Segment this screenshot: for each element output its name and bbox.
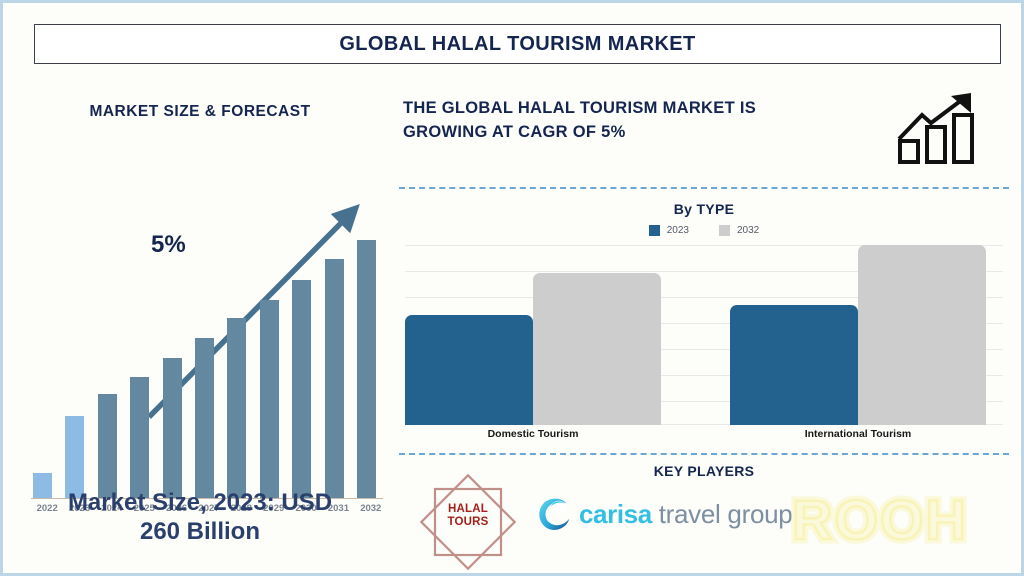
category-label-international-tourism: International Tourism bbox=[730, 428, 986, 440]
cagr-headline-line-1: THE GLOBAL HALAL TOURISM MARKET IS bbox=[403, 99, 756, 117]
halal-tours-line-1: HALAL bbox=[448, 503, 488, 515]
bar-2025 bbox=[130, 377, 149, 498]
globe-swoosh-icon bbox=[535, 495, 573, 533]
bar-2023 bbox=[65, 416, 84, 498]
cagr-headline: THE GLOBAL HALAL TOURISM MARKET IS GROWI… bbox=[403, 97, 883, 145]
bar-2024 bbox=[98, 394, 117, 498]
bar-2027 bbox=[195, 338, 214, 498]
by-type-bar-chart bbox=[405, 245, 1003, 425]
chart-legend: 20232032 bbox=[395, 225, 1013, 236]
bar-2026 bbox=[163, 358, 182, 498]
bar-domestic-tourism-2032 bbox=[533, 273, 661, 425]
infographic-canvas: GLOBAL HALAL TOURISM MARKET MARKET SIZE … bbox=[3, 3, 1021, 573]
key-players-logos: HALAL TOURS bbox=[395, 481, 1013, 573]
divider-top-dashed bbox=[399, 187, 1009, 189]
market-size-bar-chart: 5% 2022202320242025202620272028202920302… bbox=[21, 123, 381, 459]
market-size-value: Market Size, 2023: USD 260 Billion bbox=[11, 488, 389, 547]
rooh-text-glow: ROOH bbox=[792, 488, 968, 551]
rooh-wordmark-icon: ROOH ROOH bbox=[790, 487, 970, 553]
category-axis-labels: Domestic TourismInternational Tourism bbox=[405, 428, 1003, 446]
bar-2028 bbox=[227, 318, 246, 498]
market-size-line-2: 260 Billion bbox=[140, 518, 260, 545]
bar-domestic-tourism-2023 bbox=[405, 315, 533, 425]
legend-item-2023: 2023 bbox=[649, 225, 689, 236]
bar-2030 bbox=[292, 280, 311, 498]
carisa-brand-name: carisa bbox=[579, 499, 652, 529]
bar-2032 bbox=[357, 240, 376, 498]
right-panel: THE GLOBAL HALAL TOURISM MARKET IS GROWI… bbox=[395, 83, 1013, 571]
bar-2029 bbox=[260, 300, 279, 498]
cagr-headline-line-2: GROWING AT CAGR OF 5% bbox=[403, 123, 626, 141]
legend-swatch-2023 bbox=[649, 225, 660, 236]
halal-tours-line-2: TOURS bbox=[447, 516, 488, 528]
divider-bottom-dashed bbox=[399, 453, 1009, 455]
legend-swatch-2032 bbox=[719, 225, 730, 236]
page-title: GLOBAL HALAL TOURISM MARKET bbox=[339, 33, 695, 56]
bar-2031 bbox=[325, 259, 344, 498]
legend-label-2023: 2023 bbox=[667, 225, 689, 236]
carisa-brand-suffix: travel group bbox=[652, 499, 793, 529]
category-label-domestic-tourism: Domestic Tourism bbox=[405, 428, 661, 440]
market-size-forecast-heading: MARKET SIZE & FORECAST bbox=[11, 103, 389, 121]
market-size-line-1: Market Size, 2023: USD bbox=[68, 489, 332, 516]
bar-chart-growth-icon bbox=[895, 91, 987, 166]
legend-label-2032: 2032 bbox=[737, 225, 759, 236]
bar-international-tourism-2023 bbox=[730, 305, 858, 425]
carisa-logo: carisa travel group bbox=[535, 495, 792, 533]
title-box: GLOBAL HALAL TOURISM MARKET bbox=[34, 24, 1001, 64]
bar-international-tourism-2032 bbox=[858, 245, 986, 425]
cagr-badge: 5% bbox=[151, 231, 186, 259]
by-type-title: By TYPE bbox=[395, 201, 1013, 217]
left-panel: MARKET SIZE & FORECAST 5% 20222023202420… bbox=[11, 83, 389, 571]
legend-item-2032: 2032 bbox=[719, 225, 759, 236]
halal-tours-logo-text: HALAL TOURS bbox=[417, 503, 519, 529]
